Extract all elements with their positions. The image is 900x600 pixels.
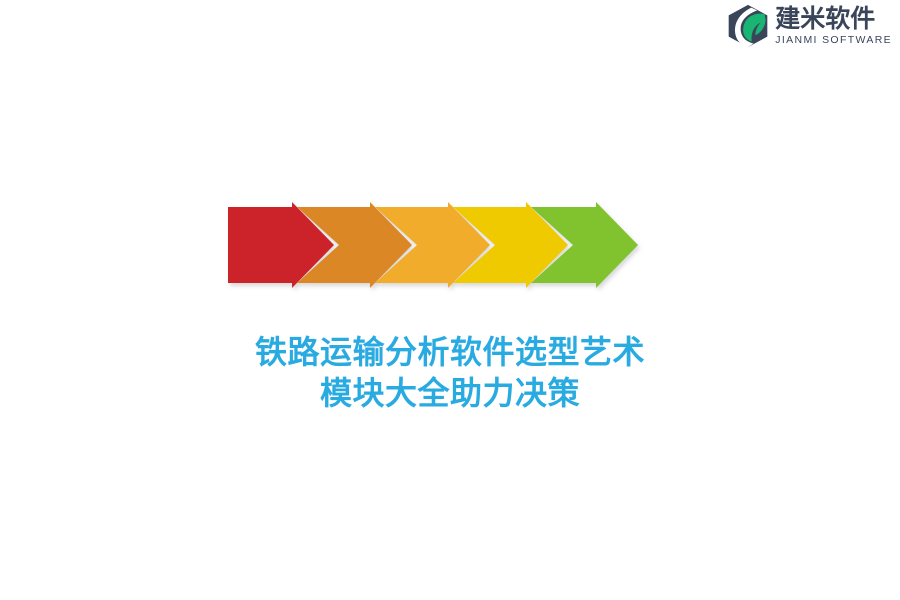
page-title-line-2: 模块大全助力决策: [0, 373, 900, 414]
brand-wordmark: 建米软件 JIANMI SOFTWARE: [775, 6, 892, 46]
brand-header: 建米软件 JIANMI SOFTWARE: [690, 0, 900, 52]
process-arrow-graphic: [222, 196, 646, 294]
chevron-group: [228, 202, 638, 288]
brand-name-en: JIANMI SOFTWARE: [775, 35, 892, 46]
brand-name-cn: 建米软件: [775, 6, 875, 32]
process-arrow-svg: [222, 196, 646, 294]
page-title-line-1: 铁路运输分析软件选型艺术: [0, 332, 900, 373]
jianmi-hexagon-leaf-logo-icon: [725, 3, 771, 49]
page-title: 铁路运输分析软件选型艺术 模块大全助力决策: [0, 332, 900, 414]
